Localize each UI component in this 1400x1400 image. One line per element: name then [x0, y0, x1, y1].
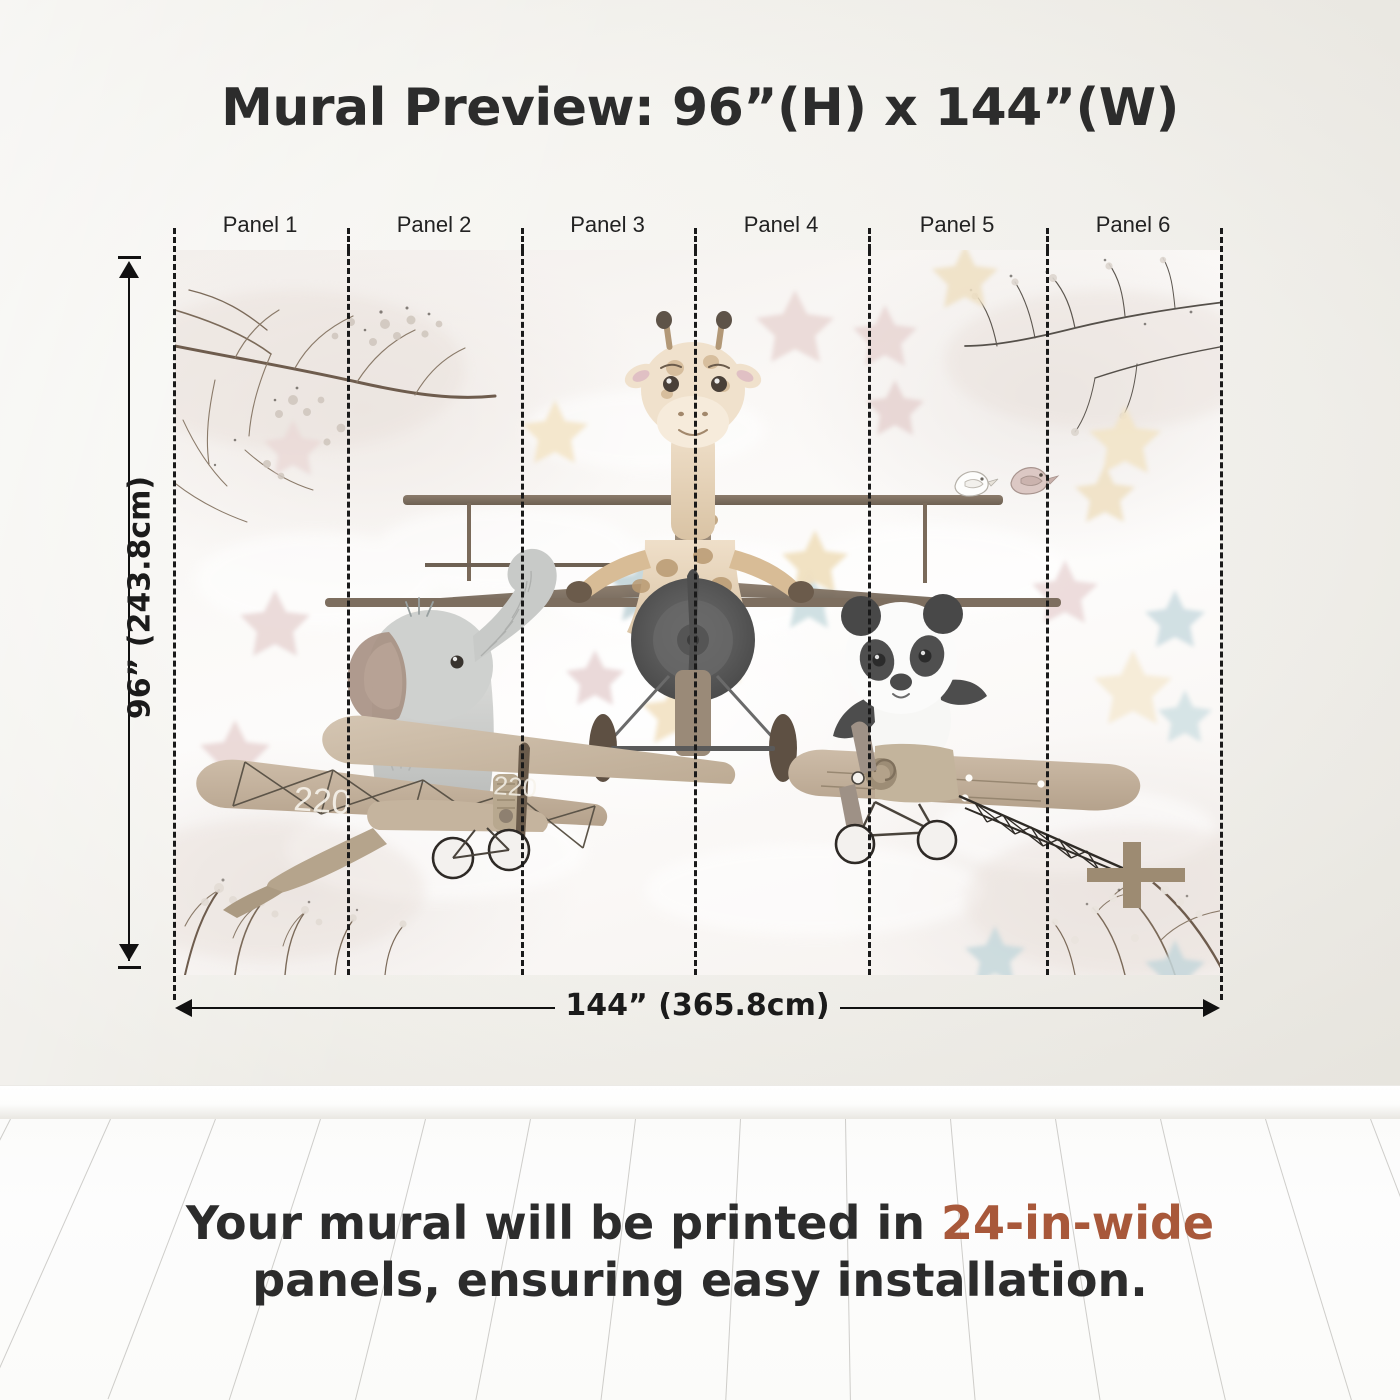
- panel-label-4: Panel 4: [694, 212, 868, 238]
- baseboard: [0, 1085, 1400, 1119]
- width-label-text: 144” (365.8cm): [549, 988, 845, 1023]
- caption-block: Your mural will be printed in 24-in-wide…: [100, 1195, 1300, 1309]
- floor-plank: [0, 1119, 111, 1393]
- height-dimension: 96” (243.8cm): [110, 250, 150, 975]
- panel-label-5: Panel 5: [868, 212, 1046, 238]
- height-label: 96” (243.8cm): [123, 368, 158, 828]
- height-arrow-down: [119, 944, 139, 961]
- width-dimension: 144” (365.8cm): [175, 992, 1220, 1026]
- height-tick-top: [118, 256, 141, 259]
- caption-line-1: Your mural will be printed in 24-in-wide: [100, 1195, 1300, 1252]
- panel-label-3: Panel 3: [521, 212, 694, 238]
- panel-label-6: Panel 6: [1046, 212, 1220, 238]
- height-tick-bottom: [118, 966, 141, 969]
- panel-label-2: Panel 2: [347, 212, 521, 238]
- floor-plank: [1370, 1119, 1400, 1399]
- caption-highlight: 24-in-wide: [941, 1196, 1214, 1250]
- panel-labels: Panel 1 Panel 2 Panel 3 Panel 4 Panel 5 …: [175, 0, 1220, 250]
- panel-label-1: Panel 1: [173, 212, 347, 238]
- caption-text-before: Your mural will be printed in: [186, 1196, 941, 1250]
- mural-left-edge: [173, 228, 176, 1000]
- mural-right-edge: [1220, 228, 1223, 1000]
- width-label: 144” (365.8cm): [175, 988, 1220, 1023]
- caption-line-2: panels, ensuring easy installation.: [100, 1252, 1300, 1309]
- panel-guide-layer: [175, 250, 1220, 975]
